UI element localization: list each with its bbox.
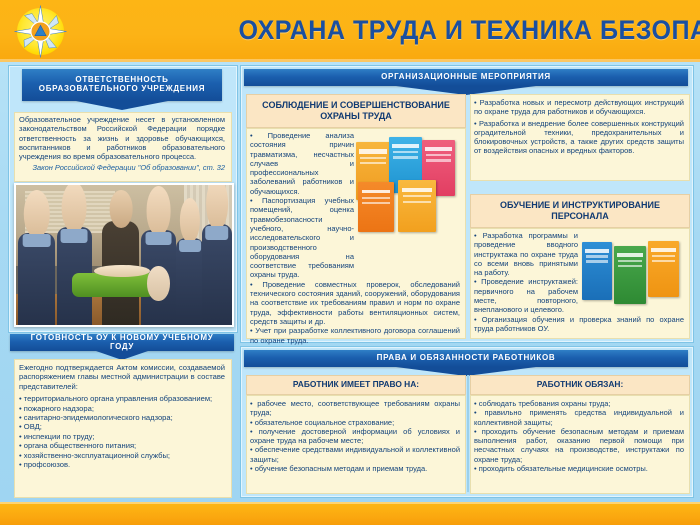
rights-header-label: РАБОТНИК ИМЕЕТ ПРАВО НА: (293, 380, 419, 390)
rights-header: РАБОТНИК ИМЕЕТ ПРАВО НА: (246, 375, 466, 395)
training-item-2: • Организация обучения и проверка знаний… (474, 315, 684, 334)
readiness-item-2: • санитарно-эпидемиологического надзора; (19, 413, 225, 422)
rights-item-1: • обязательное социальное страхование; (250, 418, 460, 427)
rights-duties-header-label: ПРАВА И ОБЯЗАННОСТИ РАБОТНИКОВ (369, 354, 564, 363)
responsibility-header-label: ОТВЕТСТВЕННОСТЬ ОБРАЗОВАТЕЛЬНОГО УЧРЕЖДЕ… (22, 76, 222, 94)
compliance-header-label: СОБЛЮДЕНИЕ И СОВЕРШЕНСТВОВАНИЕ ОХРАНЫ ТР… (247, 100, 465, 121)
safety-poster: ОХРАНА ТРУДА И ТЕХНИКА БЕЗОПАСНОСТИ ОТВЕ… (0, 0, 700, 525)
readiness-item-1: • пожарного надзора; (19, 404, 225, 413)
training-item-0: • Разработка программы и проведение ввод… (474, 231, 578, 277)
training-body-text: • Разработка программы и проведение ввод… (474, 231, 684, 333)
duties-body-text: • соблюдать требования охраны труда; • п… (474, 399, 684, 473)
organizational-header: ОРГАНИЗАЦИОННЫЕ МЕРОПРИЯТИЯ (244, 69, 688, 86)
organizational-body-text: • Разработка новых и пересмотр действующ… (474, 98, 684, 156)
organizational-item-0: • Разработка новых и пересмотр действующ… (474, 98, 684, 117)
poster-body: ОТВЕТСТВЕННОСТЬ ОБРАЗОВАТЕЛЬНОГО УЧРЕЖДЕ… (0, 62, 700, 502)
readiness-item-5: • органа общественного питания; (19, 441, 225, 450)
responsibility-paragraph: Образовательное учреждение несет в устан… (19, 115, 225, 161)
duties-item-2: • проходить обучение безопасным методам … (474, 427, 684, 464)
readiness-item-0: • территориального органа управления обр… (19, 394, 225, 403)
organizational-item-1: • Разработка и внедрение более совершенн… (474, 119, 684, 156)
responsibility-citation: Закон Российской Федерации "Об образован… (19, 163, 225, 172)
readiness-item-6: • хозяйственно-эксплуатационной службы; (19, 451, 225, 460)
compliance-header: СОБЛЮДЕНИЕ И СОВЕРШЕНСТВОВАНИЕ ОХРАНЫ ТР… (246, 94, 466, 128)
rights-item-4: • обучение безопасным методам и приемам … (250, 464, 460, 473)
compliance-body-text: • Проведение анализа состояния причин тр… (250, 131, 460, 345)
page-title: ОХРАНА ТРУДА И ТЕХНИКА БЕЗОПАСНОСТИ (238, 8, 675, 52)
training-item-1: • Проведение инструктажей: первичного на… (474, 277, 578, 314)
organizational-header-label: ОРГАНИЗАЦИОННЫЕ МЕРОПРИЯТИЯ (373, 73, 559, 82)
students-cpr-photo (14, 183, 234, 327)
compliance-item-1: • Паспортизация учебных помещений, оценк… (250, 196, 354, 280)
responsibility-header: ОТВЕТСТВЕННОСТЬ ОБРАЗОВАТЕЛЬНОГО УЧРЕЖДЕ… (22, 69, 222, 101)
responsibility-body-text: Образовательное учреждение несет в устан… (19, 115, 225, 173)
duties-header: РАБОТНИК ОБЯЗАН: (470, 375, 690, 395)
training-header: ОБУЧЕНИЕ И ИНСТРУКТИРОВАНИЕ ПЕРСОНАЛА (470, 194, 690, 228)
readiness-header: ГОТОВНОСТЬ ОУ К НОВОМУ УЧЕБНОМУ ГОДУ (10, 334, 234, 351)
rights-duties-header: ПРАВА И ОБЯЗАННОСТИ РАБОТНИКОВ (244, 350, 688, 367)
compliance-item-0: • Проведение анализа состояния причин тр… (250, 131, 354, 196)
duties-item-0: • соблюдать требования охраны труда; (474, 399, 684, 408)
readiness-item-3: • ОВД; (19, 422, 225, 431)
rights-item-0: • рабочее место, соответствующее требова… (250, 399, 460, 418)
rights-item-2: • получение достоверной информации об ус… (250, 427, 460, 446)
training-header-label: ОБУЧЕНИЕ И ИНСТРУКТИРОВАНИЕ ПЕРСОНАЛА (471, 200, 689, 221)
bottom-divider (467, 375, 469, 492)
readiness-item-7: • профсоюзов. (19, 460, 225, 469)
rights-body-text: • рабочее место, соответствующее требова… (250, 399, 460, 473)
duties-item-1: • правильно применять средства индивидуа… (474, 408, 684, 427)
readiness-body-text: Ежегодно подтверждается Актом комиссии, … (19, 363, 225, 469)
compliance-item-2: • Проведение совместных проверок, обслед… (250, 280, 460, 326)
duties-item-3: • проходить обязательные медицинские осм… (474, 464, 684, 473)
compliance-item-3: • Учет при разработке коллективного дого… (250, 326, 460, 345)
readiness-item-4: • инспекции по труду; (19, 432, 225, 441)
readiness-header-label: ГОТОВНОСТЬ ОУ К НОВОМУ УЧЕБНОМУ ГОДУ (10, 334, 234, 352)
emercom-star-emblem (11, 4, 69, 59)
footer-band (0, 502, 700, 525)
duties-header-label: РАБОТНИК ОБЯЗАН: (537, 380, 624, 390)
rights-item-3: • обеспечение средствами индивидуальной … (250, 445, 460, 464)
readiness-intro: Ежегодно подтверждается Актом комиссии, … (19, 363, 225, 391)
